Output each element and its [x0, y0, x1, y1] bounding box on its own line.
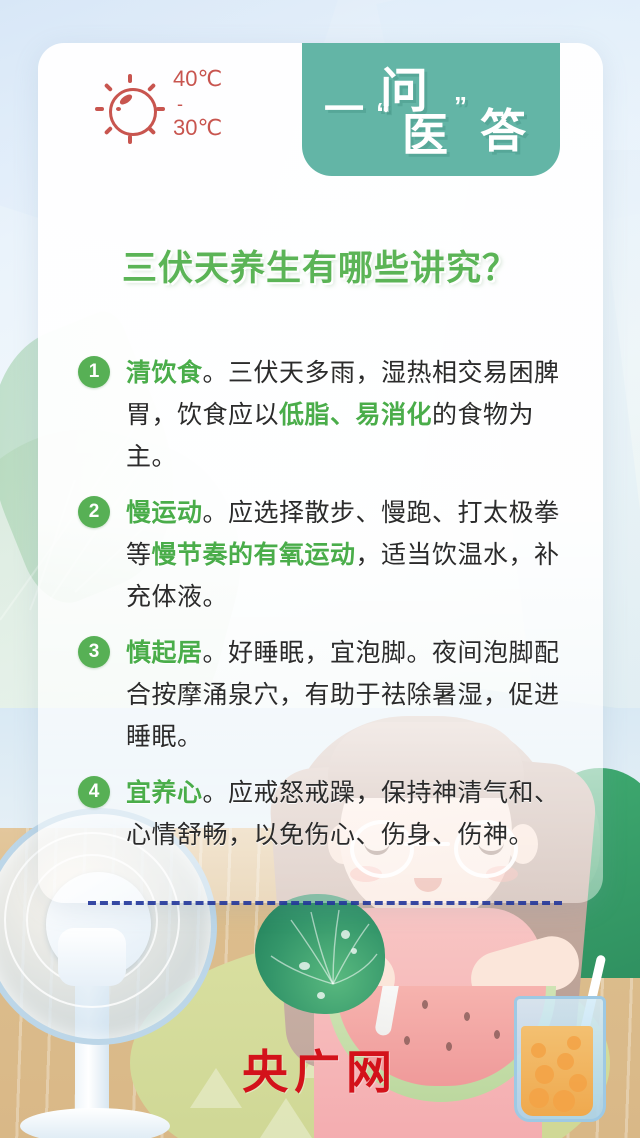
dew-drop — [351, 948, 357, 954]
tips-list: 1 清饮食。三伏天多雨，湿热相交易困脾胃，饮食应以低脂、易消化的食物为主。 2 … — [78, 352, 568, 870]
badge-char-5: ” — [454, 91, 467, 122]
list-item: 1 清饮食。三伏天多雨，湿热相交易困脾胃，饮食应以低脂、易消化的食物为主。 — [78, 352, 568, 478]
list-item-text: 清饮食。三伏天多雨，湿热相交易困脾胃，饮食应以低脂、易消化的食物为主。 — [126, 352, 568, 478]
list-item-lead: 宜养心 — [126, 779, 203, 807]
badge-char-1: 一 — [324, 77, 366, 135]
dew-drop — [341, 930, 350, 939]
watermelon-seed — [422, 1000, 428, 1009]
program-badge: 一 问 “ 医 ” 答 — [302, 43, 560, 176]
list-item-number: 1 — [78, 356, 110, 388]
sun-icon — [95, 74, 165, 144]
list-item: 4 宜养心。应戒怒戒躁，保持神清气和、心情舒畅，以免伤心、伤身、伤神。 — [78, 772, 568, 856]
lotus-leaf — [255, 894, 385, 1014]
temperature-high: 40℃ — [173, 68, 222, 90]
dashed-divider — [88, 901, 562, 905]
dew-drop — [317, 992, 325, 999]
sun-ray — [104, 126, 113, 135]
list-item: 2 慢运动。应选择散步、慢跑、打太极拳等慢节奏的有氧运动，适当饮温水，补充体液。 — [78, 492, 568, 618]
list-item-text: 慢运动。应选择散步、慢跑、打太极拳等慢节奏的有氧运动，适当饮温水，补充体液。 — [126, 492, 568, 618]
fan-base — [20, 1108, 170, 1138]
list-item-number: 3 — [78, 636, 110, 668]
page-title: 三伏天养生有哪些讲究？ — [0, 240, 640, 291]
list-item-text: 慎起居。好睡眠，宜泡脚。夜间泡脚配合按摩涌泉穴，有助于祛除暑湿，促进睡眠。 — [126, 632, 568, 758]
poster-root: 40℃ - 30℃ 一 问 “ 医 ” 答 三伏天养生有哪些讲究？ 1 清饮食。… — [0, 0, 640, 1138]
list-item-number: 4 — [78, 776, 110, 808]
dew-drop — [299, 962, 310, 970]
list-item: 3 慎起居。好睡眠，宜泡脚。夜间泡脚配合按摩涌泉穴，有助于祛除暑湿，促进睡眠。 — [78, 632, 568, 758]
sun-highlight-small — [116, 107, 121, 111]
badge-text: 一 问 “ 医 ” 答 — [302, 43, 560, 176]
sun-ray — [156, 107, 165, 111]
badge-char-6: 答 — [480, 95, 526, 161]
list-item-highlight: 低脂、易消化 — [279, 401, 432, 429]
list-item-lead: 清饮食 — [126, 359, 203, 387]
sun-ray — [147, 83, 156, 92]
weather-widget: 40℃ - 30℃ — [95, 60, 275, 160]
temperature-separator: - — [177, 95, 222, 113]
list-item-lead: 慢运动 — [126, 499, 203, 527]
badge-char-3: “ — [376, 97, 390, 129]
watermelon-seed — [464, 1012, 470, 1021]
sun-ray — [128, 135, 132, 144]
list-item-highlight: 慢节奏的有氧运动 — [152, 541, 356, 569]
list-item-text: 宜养心。应戒怒戒躁，保持神清气和、心情舒畅，以免伤心、伤身、伤神。 — [126, 772, 568, 856]
list-item-number: 2 — [78, 496, 110, 528]
sun-ray — [147, 126, 156, 135]
list-item-lead: 慎起居 — [126, 639, 203, 667]
sun-ray — [128, 74, 132, 83]
footer-logo: 央广网 — [0, 1036, 640, 1102]
sun-ray — [104, 83, 113, 92]
sun-ray — [95, 107, 104, 111]
temperature-low: 30℃ — [173, 117, 222, 139]
fan-neck — [58, 928, 126, 986]
temperature-range: 40℃ - 30℃ — [173, 68, 222, 139]
badge-char-4: 医 — [402, 99, 448, 165]
